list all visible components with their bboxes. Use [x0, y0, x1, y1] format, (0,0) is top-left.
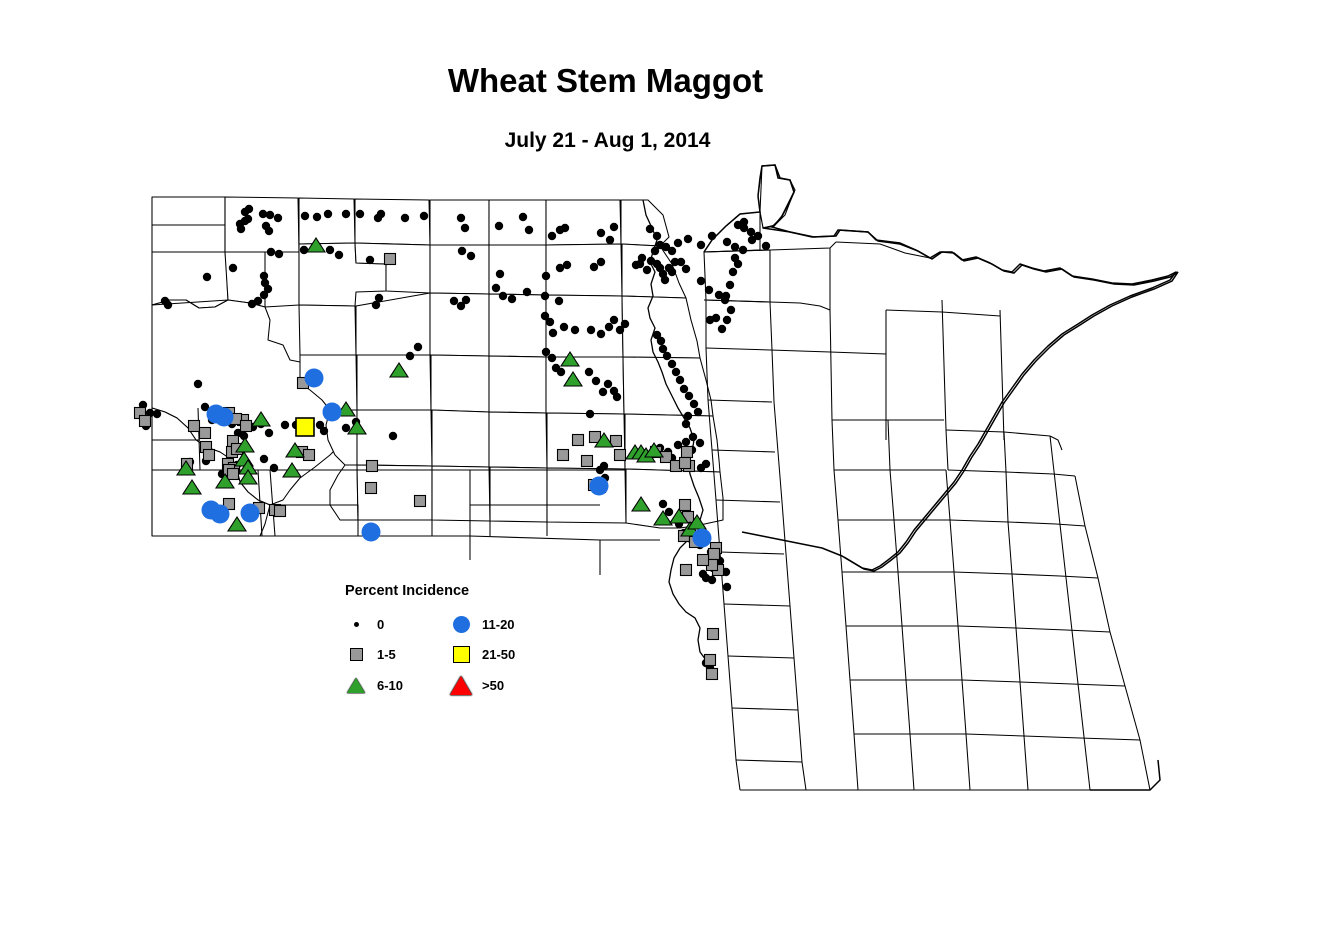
green-triangle-icon — [345, 674, 367, 696]
dot-icon — [345, 613, 367, 635]
county-boundaries — [152, 197, 723, 536]
yellow-square-icon — [450, 643, 472, 665]
legend-label-1-5: 1-5 — [377, 647, 396, 662]
legend-item-0[interactable]: 0 — [345, 613, 384, 635]
legend-items: 0 1-5 6-10 11-20 21-50 >50 — [337, 613, 567, 699]
legend: Percent Incidence 0 1-5 6-10 11-20 21-50 — [337, 583, 567, 708]
legend-label-over-50: >50 — [482, 678, 504, 693]
legend-item-over-50[interactable]: >50 — [450, 674, 504, 696]
gray-square-icon — [345, 643, 367, 665]
legend-label-0: 0 — [377, 617, 384, 632]
blue-circle-icon — [450, 613, 472, 635]
red-triangle-icon — [450, 674, 472, 696]
county-map — [0, 0, 1341, 926]
legend-item-21-50[interactable]: 21-50 — [450, 643, 515, 665]
minnesota-counties — [704, 165, 1176, 572]
legend-item-1-5[interactable]: 1-5 — [345, 643, 396, 665]
legend-item-11-20[interactable]: 11-20 — [450, 613, 515, 635]
legend-label-11-20: 11-20 — [482, 617, 515, 632]
legend-label-21-50: 21-50 — [482, 647, 515, 662]
legend-title: Percent Incidence — [345, 583, 567, 599]
legend-item-6-10[interactable]: 6-10 — [345, 674, 403, 696]
map-page: Wheat Stem Maggot July 21 - Aug 1, 2014 — [0, 0, 1341, 926]
legend-label-6-10: 6-10 — [377, 678, 403, 693]
